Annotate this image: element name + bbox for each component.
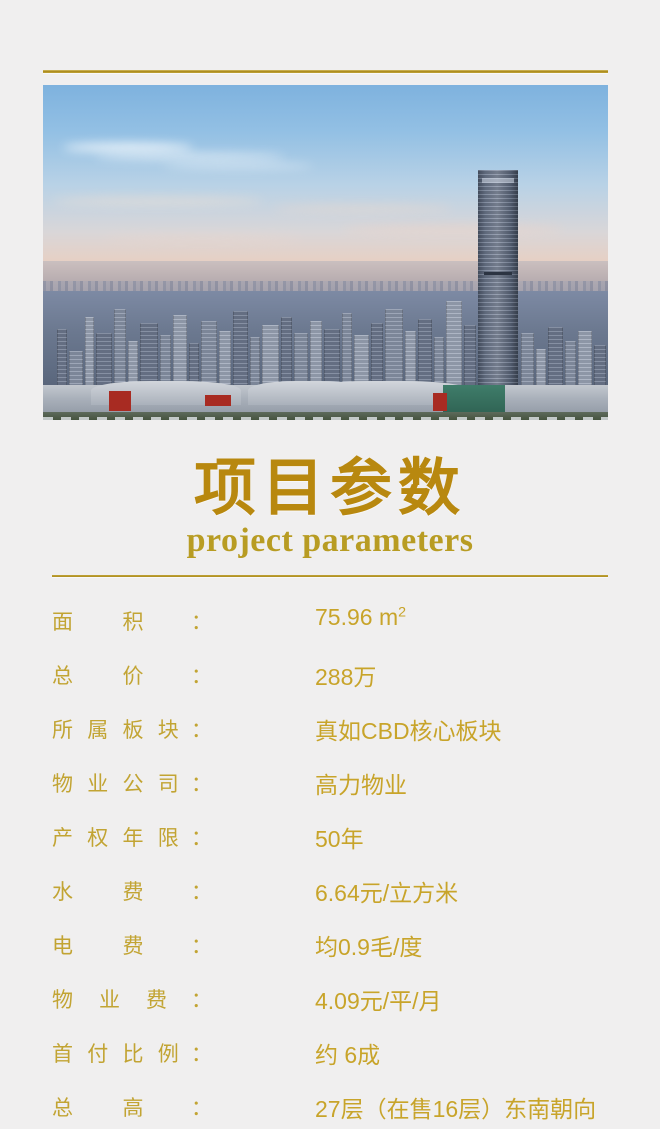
- label-char: 所: [52, 714, 73, 744]
- parameter-label: 物业公司：: [52, 768, 212, 798]
- parameter-value: 均0.9毛/度: [315, 928, 422, 962]
- label-char: 付: [87, 1038, 108, 1068]
- parameter-label: 所属板块：: [52, 714, 212, 744]
- label-colon: ：: [191, 930, 212, 960]
- divider-top: [43, 70, 608, 73]
- page-title-cn: 项目参数: [0, 437, 660, 527]
- label-char: 价: [123, 660, 144, 690]
- cloud: [53, 197, 263, 205]
- parameter-value: 288万: [315, 658, 376, 692]
- parameter-label: 首付比例：: [52, 1038, 212, 1068]
- label-colon: ：: [191, 822, 212, 852]
- parameter-label: 产权年限：: [52, 822, 212, 852]
- label-char: 权: [87, 822, 108, 852]
- cloud: [63, 143, 193, 152]
- road-markings: [43, 417, 608, 420]
- parameter-label: 物业费：: [52, 984, 212, 1014]
- parameter-row: 物业公司：高力物业: [0, 758, 660, 812]
- label-char: 例: [158, 1038, 179, 1068]
- label-char: 限: [158, 822, 179, 852]
- label-colon: ：: [191, 984, 212, 1014]
- label-char: 水: [52, 876, 73, 906]
- parameter-row: 所属板块：真如CBD核心板块: [0, 704, 660, 758]
- label-colon: ：: [191, 714, 212, 744]
- red-signage: [205, 395, 231, 406]
- parameter-row: 面积：75.96 m2: [0, 596, 660, 650]
- label-char: 年: [123, 822, 144, 852]
- parameter-row: 首付比例：约 6成: [0, 1028, 660, 1082]
- parameter-row: 电费：均0.9毛/度: [0, 920, 660, 974]
- poster-page: 项目参数 project parameters 面积：75.96 m2总价：28…: [0, 0, 660, 1129]
- parameter-label: 总高：: [52, 1092, 212, 1122]
- label-char: 总: [52, 1092, 73, 1122]
- label-char: 业: [87, 768, 108, 798]
- label-colon: ：: [191, 1038, 212, 1068]
- red-signage: [109, 391, 131, 411]
- value-superscript: 2: [398, 604, 406, 620]
- label-char: 比: [123, 1038, 144, 1068]
- parameter-value: 6.64元/立方米: [315, 874, 458, 908]
- label-char: 首: [52, 1038, 73, 1068]
- parameter-value: 约 6成: [315, 1036, 380, 1070]
- label-char: 费: [123, 930, 144, 960]
- label-char: 电: [52, 930, 73, 960]
- label-char: 总: [52, 660, 73, 690]
- label-colon: ：: [191, 606, 212, 636]
- parameter-value: 27层（在售16层）东南朝向: [315, 1090, 596, 1124]
- cloud: [163, 163, 313, 169]
- label-char: 公: [123, 768, 144, 798]
- label-char: 板: [123, 714, 144, 744]
- label-char: 块: [158, 714, 179, 744]
- parameter-row: 物业费：4.09元/平/月: [0, 974, 660, 1028]
- label-char: 物: [52, 768, 73, 798]
- label-char: 司: [158, 768, 179, 798]
- parameter-value: 真如CBD核心板块: [315, 712, 502, 746]
- parameter-value: 75.96 m2: [315, 604, 406, 631]
- cloud: [273, 205, 453, 212]
- red-signage: [433, 393, 447, 411]
- cloud: [95, 153, 285, 160]
- label-colon: ：: [191, 876, 212, 906]
- parameter-label: 面积：: [52, 606, 212, 636]
- label-colon: ：: [191, 1092, 212, 1122]
- parameter-row: 产权年限：50年: [0, 812, 660, 866]
- parameter-list: 面积：75.96 m2总价：288万所属板块：真如CBD核心板块物业公司：高力物…: [0, 596, 660, 1129]
- page-title-en: project parameters: [0, 522, 660, 560]
- parameter-label: 总价：: [52, 660, 212, 690]
- label-char: 属: [87, 714, 108, 744]
- parameter-row: 总价：288万: [0, 650, 660, 704]
- label-colon: ：: [191, 768, 212, 798]
- city-skyline-photo: [43, 85, 608, 420]
- label-colon: ：: [191, 660, 212, 690]
- parameter-value: 4.09元/平/月: [315, 982, 442, 1016]
- parameter-row: 总高：27层（在售16层）东南朝向: [0, 1082, 660, 1129]
- cloud: [103, 235, 303, 242]
- label-char: 费: [146, 984, 167, 1014]
- label-char: 费: [123, 876, 144, 906]
- label-char: 积: [123, 606, 144, 636]
- label-char: 高: [123, 1092, 144, 1122]
- label-char: 产: [52, 822, 73, 852]
- cloud: [343, 225, 563, 234]
- parameter-value: 50年: [315, 820, 364, 854]
- parameter-row: 水费：6.64元/立方米: [0, 866, 660, 920]
- label-char: 业: [99, 984, 120, 1014]
- parameter-label: 电费：: [52, 930, 212, 960]
- label-char: 物: [52, 984, 73, 1014]
- label-char: 面: [52, 606, 73, 636]
- parameter-value: 高力物业: [315, 766, 407, 800]
- divider-bottom: [52, 575, 608, 577]
- parameter-label: 水费：: [52, 876, 212, 906]
